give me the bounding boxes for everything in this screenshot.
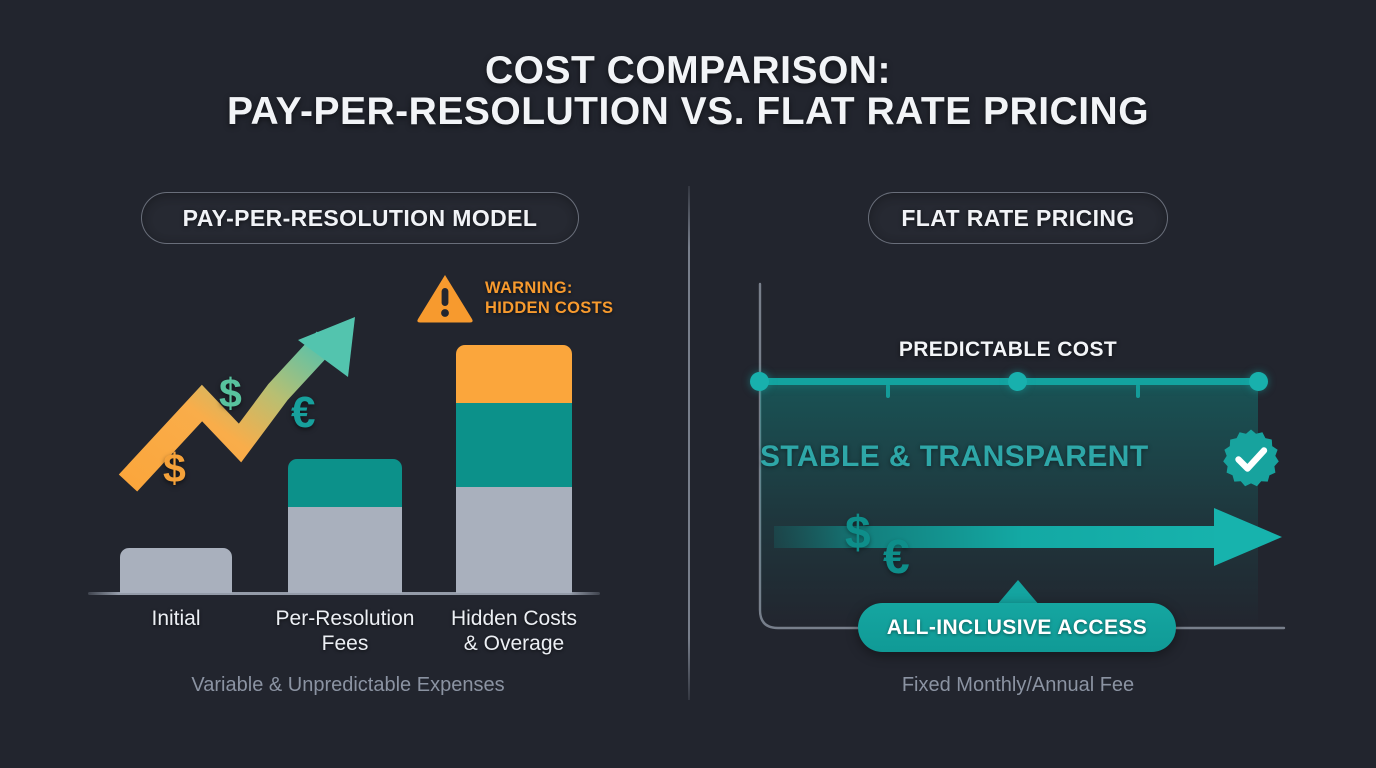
euro-symbol-icon-right: € [883,530,910,585]
panel-header-flat-rate[interactable]: FLAT RATE PRICING [868,192,1168,244]
stable-transparent-label: STABLE & TRANSPARENT [760,440,1200,474]
check-badge-icon [1220,428,1282,490]
flat-rate-tick-1 [886,384,890,398]
all-inclusive-access-badge[interactable]: ALL-INCLUSIVE ACCESS [858,603,1176,652]
flat-rate-pricing-panel: FLAT RATE PRICING PREDICTABLE COST STABL… [0,0,1376,768]
flat-rate-tick-2 [1136,384,1140,398]
predictable-cost-label: PREDICTABLE COST [758,338,1258,362]
flat-rate-point-1[interactable] [1008,372,1027,391]
flat-rate-point-0[interactable] [750,372,769,391]
flat-rate-point-2[interactable] [1249,372,1268,391]
infographic-canvas: COST COMPARISON: PAY-PER-RESOLUTION VS. … [0,0,1376,768]
dollar-symbol-icon-right: $ [845,505,871,559]
right-panel-caption: Fixed Monthly/Annual Fee [758,674,1278,697]
